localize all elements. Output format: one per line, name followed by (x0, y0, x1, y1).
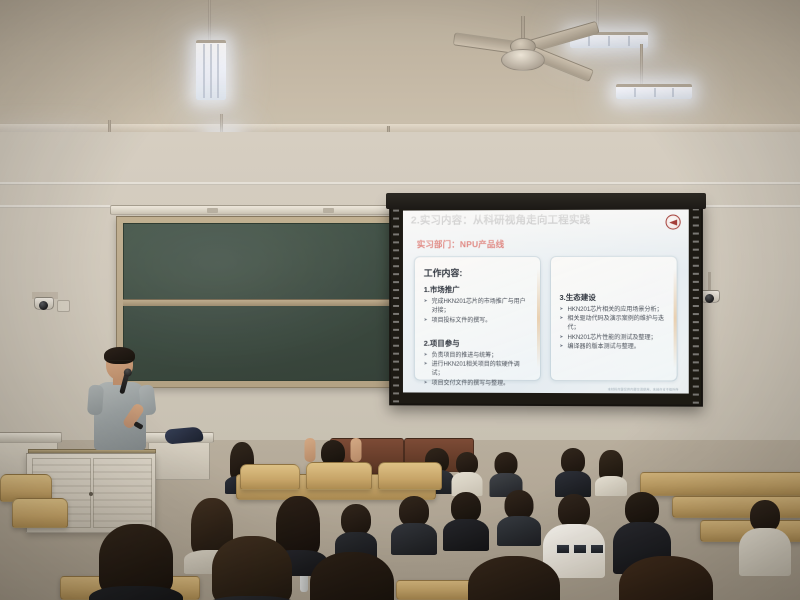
rail-knob (323, 208, 334, 213)
projection-screen: 2.实习内容：从科研视角走向工程实践 实习部门：NPU产品线 工作内容: 1.市… (389, 198, 703, 406)
bullet-item: HKN201芯片性能的测试及整理； (559, 334, 668, 343)
head (625, 492, 659, 526)
camera-body (34, 297, 54, 310)
hair (468, 556, 560, 600)
audience-member (498, 490, 540, 554)
screen-right-edge (693, 200, 699, 404)
shoulders (89, 586, 183, 600)
hair (212, 536, 292, 600)
shoulders (739, 528, 791, 576)
classroom-scene: 2.实习内容：从科研视角走向工程实践 实习部门：NPU产品线 工作内容: 1.市… (0, 0, 800, 600)
section-title-market-promotion: 1.市场推广 (424, 284, 532, 295)
hanging-fluorescent-lamp (616, 84, 692, 99)
bullet-item: 完成HKN201芯片的市场推广与用户对接； (424, 298, 532, 317)
presentation-slide: 2.实习内容：从科研视角走向工程实践 实习部门：NPU产品线 工作内容: 1.市… (403, 209, 689, 393)
chair-back (12, 498, 68, 528)
slide-title: 2.实习内容：从科研视角走向工程实践 (411, 212, 655, 228)
lamp-rod (208, 0, 211, 42)
section-title-project-participation: 2.项目参与 (424, 338, 532, 349)
head (558, 494, 590, 528)
shoulders (443, 519, 489, 551)
fan-light-cap (501, 49, 545, 71)
shoulders (391, 523, 437, 555)
ceiling (0, 0, 800, 132)
camera-body (700, 290, 720, 303)
bullet-item: 进行HKN201相关项目的软硬件调试； (424, 361, 532, 380)
screen-left-edge (393, 202, 399, 404)
bullet-item: 编译器的版本测试与整理。 (559, 343, 668, 353)
audience-member (444, 492, 488, 558)
audience-member-foreground (462, 556, 566, 600)
audience-member (452, 452, 482, 496)
audience-arm-raised (350, 438, 362, 462)
card-heading: 工作内容: (424, 266, 532, 279)
camera-lens (705, 294, 714, 303)
section-title-ecosystem: 3.生态建设 (559, 292, 668, 303)
screen-roller-casing (386, 193, 706, 209)
hair (619, 556, 713, 600)
shirt-print-graphic (556, 544, 604, 554)
bullet-item: 相关驱动代码及演示案例的维护与迭代； (559, 315, 668, 334)
chair-back (306, 462, 372, 490)
audience-member (740, 500, 790, 578)
audience-member (596, 450, 626, 494)
chair-back (240, 464, 300, 490)
hair (310, 552, 394, 600)
left-desk-top (0, 432, 62, 443)
lamp-rod (640, 44, 643, 86)
presenter (84, 345, 158, 450)
shoulders (497, 516, 541, 546)
hanging-fluorescent-lamp (196, 40, 226, 100)
cabinet-lock[interactable] (89, 492, 93, 496)
audience-member-foreground (614, 556, 718, 600)
security-camera (32, 292, 72, 322)
audience-member (556, 448, 590, 496)
glasses-icon (107, 360, 132, 365)
slide-footnote: 本材料内容仅供内部交流使用，未经许可不得外传 (608, 387, 679, 391)
arm (351, 438, 362, 462)
ceiling-fan (458, 16, 588, 86)
audience-member-foreground (92, 524, 180, 600)
slide-card-ecosystem: 3.生态建设 HKN201芯片相关的应用场景分析； 相关驱动代码及演示案例的维护… (549, 256, 677, 382)
bullet-item: 负责项目的推进与统筹； (424, 352, 532, 362)
cabinet-door-right (93, 458, 152, 528)
bullet-item: 项目投标文件的撰写。 (424, 317, 532, 326)
slide-department-label: 实习部门：NPU产品线 (417, 238, 504, 250)
wall-junction-box (57, 300, 70, 312)
arm (305, 438, 316, 462)
rail-knob (207, 208, 218, 213)
wall-molding-line (0, 182, 800, 185)
chair-back (378, 462, 442, 490)
audience-member-foreground (304, 552, 400, 600)
slide-card-work-content: 工作内容: 1.市场推广 完成HKN201芯片的市场推广与用户对接； 项目投标文… (414, 256, 541, 381)
bullet-item: HKN201芯片相关的应用场景分析； (559, 306, 668, 315)
audience-arm-raised (304, 438, 316, 462)
slide-content-cards: 工作内容: 1.市场推广 完成HKN201芯片的市场推广与用户对接； 项目投标文… (414, 256, 678, 382)
camera-arm (708, 272, 711, 290)
company-logo-icon (666, 214, 681, 229)
presenter-left-sleeve (87, 385, 104, 416)
camera-lens (39, 301, 48, 310)
security-camera (700, 288, 734, 316)
audience-member-foreground (206, 536, 298, 600)
bullet-item: 项目交付文件的撰写与整理。 (424, 379, 532, 389)
